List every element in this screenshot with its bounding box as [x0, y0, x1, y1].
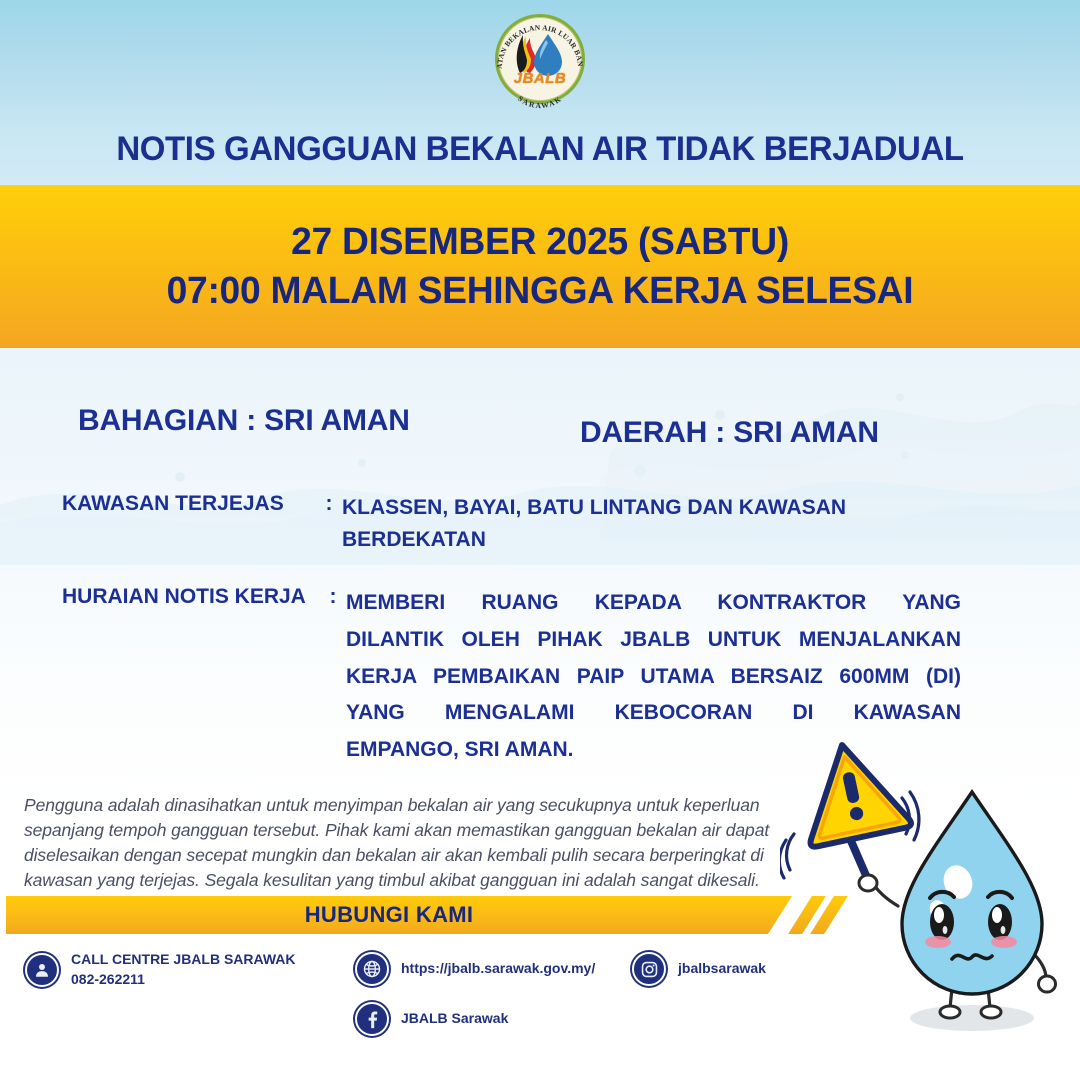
facebook-page-name[interactable]: JBALB Sarawak: [401, 1009, 508, 1029]
call-centre-name: CALL CENTRE JBALB SARAWAK: [71, 950, 296, 970]
field-kawasan-terjejas: KAWASAN TERJEJAS : KLASSEN, BAYAI, BATU …: [62, 492, 1012, 556]
date-line-1: 27 DISEMBER 2025 (SABTU): [291, 221, 789, 264]
huraian-notis-kerja-colon: :: [320, 585, 346, 769]
website-url[interactable]: https://jbalb.sarawak.gov.my/: [401, 959, 595, 979]
contact-website[interactable]: https://jbalb.sarawak.gov.my/: [355, 952, 595, 986]
kawasan-terjejas-value: KLASSEN, BAYAI, BATU LINTANG DAN KAWASAN…: [342, 492, 982, 556]
mascot-left-hand: [859, 875, 877, 891]
huraian-line-3: KERJA PEMBAIKAN PAIP UTAMA BERSAIZ 600MM…: [346, 659, 961, 696]
logo-flame-droplet-icon: [486, 12, 594, 112]
huraian-line-2: DILANTIK OLEH PIHAK JBALB UNTUK MENJALAN…: [346, 622, 961, 659]
warning-triangle-exclamation-icon: [792, 734, 912, 847]
globe-icon: [355, 952, 389, 986]
daerah-label: DAERAH : SRI AMAN: [580, 416, 879, 450]
motion-lines-left: [780, 834, 794, 878]
mascot-right-hand: [1039, 976, 1056, 992]
mascot-body: [902, 792, 1042, 994]
water-droplet-mascot: [780, 730, 1080, 1080]
huraian-line-1: MEMBERI RUANG KEPADA KONTRAKTOR YANG: [346, 585, 961, 622]
contact-call-centre[interactable]: CALL CENTRE JBALB SARAWAK 082-262211: [25, 950, 296, 989]
bahagian-label: BAHAGIAN : SRI AMAN: [78, 404, 410, 438]
mascot-shadow: [910, 1005, 1034, 1031]
division-row: BAHAGIAN : SRI AMAN DAERAH : SRI AMAN: [0, 404, 1080, 454]
page-title: NOTIS GANGGUAN BEKALAN AIR TIDAK BERJADU…: [16, 130, 1064, 169]
huraian-line-4: YANG MENGALAMI KEBOCORAN DI KAWASAN: [346, 695, 961, 732]
contact-instagram[interactable]: jbalbsarawak: [632, 952, 766, 986]
mascot-blush-left: [925, 936, 951, 948]
kawasan-terjejas-colon: :: [316, 492, 342, 556]
person-icon: [25, 953, 59, 987]
mascot-blush-right: [991, 936, 1017, 948]
contact-facebook[interactable]: JBALB Sarawak: [355, 1002, 508, 1036]
contact-banner-title: HUBUNGI KAMI: [305, 902, 474, 928]
kawasan-terjejas-label: KAWASAN TERJEJAS: [62, 492, 316, 556]
date-banner: 27 DISEMBER 2025 (SABTU) 07:00 MALAM SEH…: [0, 185, 1080, 348]
jbalb-logo: JABATAN BEKALAN AIR LUAR BANDAR SARAWAK …: [486, 12, 594, 112]
instagram-handle[interactable]: jbalbsarawak: [678, 959, 766, 979]
date-line-2: 07:00 MALAM SEHINGGA KERJA SELESAI: [167, 270, 914, 313]
contact-banner: HUBUNGI KAMI: [6, 896, 792, 934]
instagram-icon: [632, 952, 666, 986]
facebook-icon: [355, 1002, 389, 1036]
huraian-notis-kerja-label: HURAIAN NOTIS KERJA: [62, 585, 320, 769]
logo-acronym: JBALB: [486, 70, 594, 87]
contact-call-centre-text: CALL CENTRE JBALB SARAWAK 082-262211: [71, 950, 296, 989]
call-centre-number: 082-262211: [71, 970, 296, 990]
water-supply-disruption-notice: JABATAN BEKALAN AIR LUAR BANDAR SARAWAK …: [0, 0, 1080, 1080]
disclaimer-text: Pengguna adalah dinasihatkan untuk menyi…: [24, 793, 772, 892]
